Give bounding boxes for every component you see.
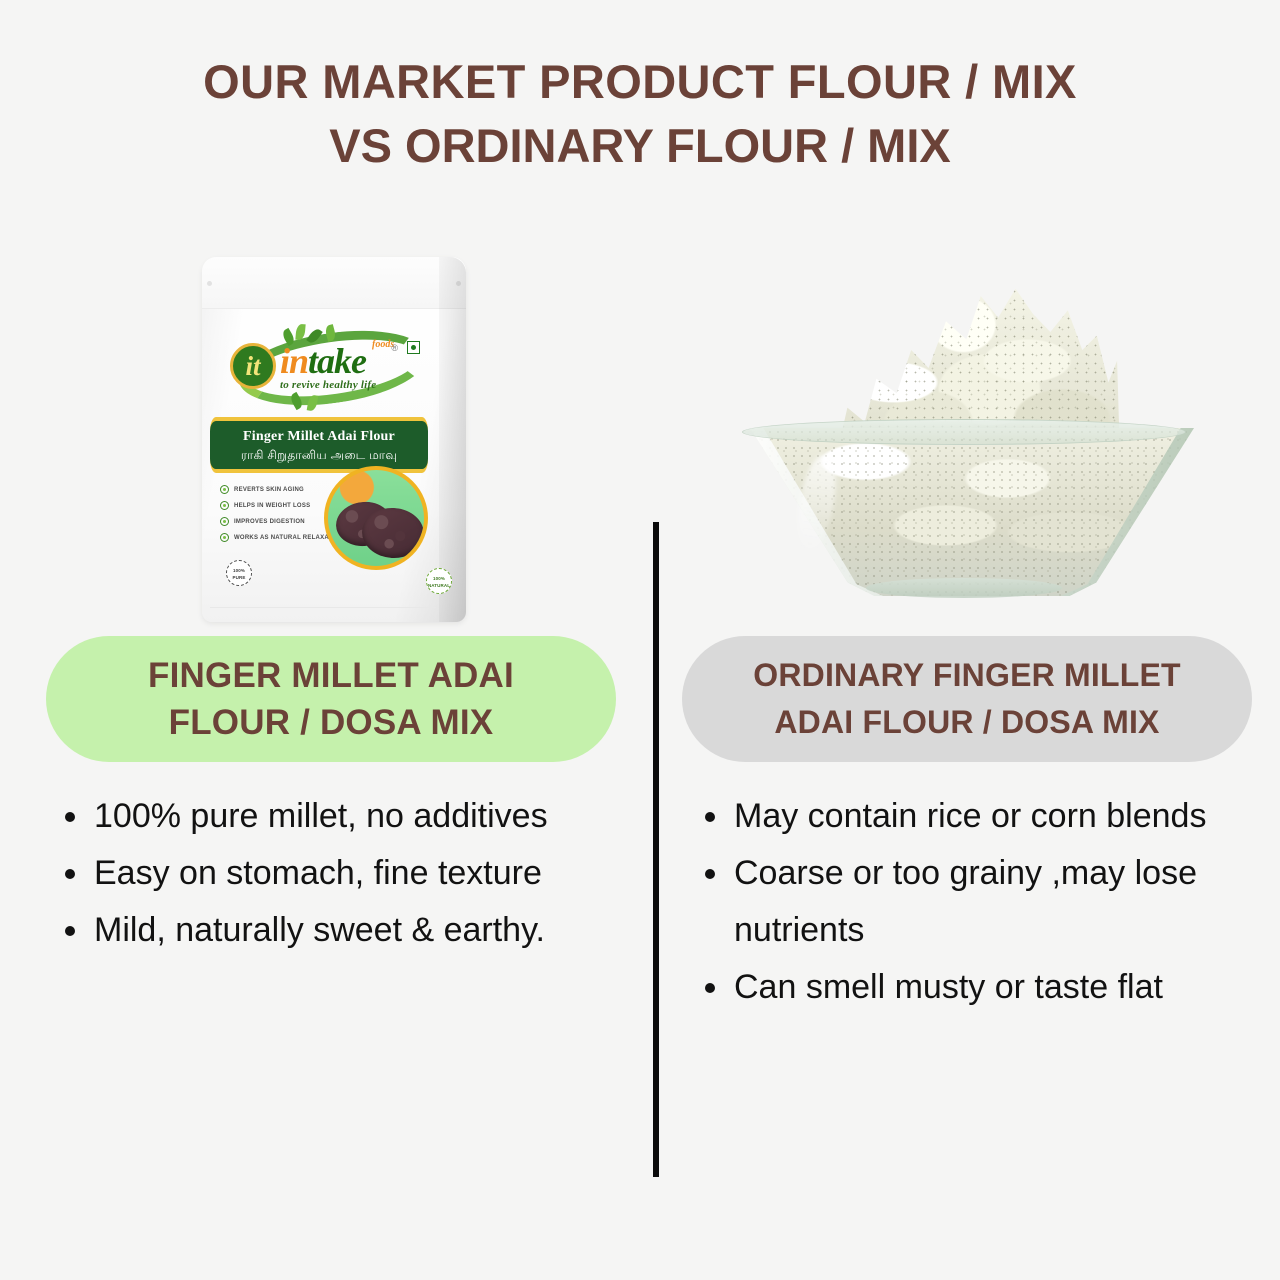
pouch-bottom-seam [210, 607, 436, 608]
pouch-notch-left-icon [207, 281, 212, 286]
brand-wordmark-in: in [280, 341, 308, 381]
flour-bowl [742, 278, 1202, 614]
package-benefit-label: WORKS AS NATURAL RELAXANT [234, 535, 337, 541]
brand-mark-it: it [230, 343, 276, 389]
pouch-top-seal [202, 257, 466, 309]
package-benefit-label: IMPROVES DIGESTION [234, 519, 305, 525]
right-bullet-list: May contain rice or corn blends Coarse o… [688, 788, 1268, 1016]
registered-trademark-icon: ® [391, 343, 398, 353]
left-label-pill: FINGER MILLET ADAI FLOUR / DOSA MIX [46, 636, 616, 762]
bowl-base [866, 578, 1062, 598]
list-item: Mild, naturally sweet & earthy. [48, 902, 628, 959]
list-item: Can smell musty or taste flat [688, 959, 1268, 1016]
list-item: May contain rice or corn blends [688, 788, 1268, 845]
gear-icon [220, 533, 229, 542]
left-bullet-list: 100% pure millet, no additives Easy on s… [48, 788, 628, 959]
gear-icon [220, 485, 229, 494]
left-column: it intake foods to revive healthy life ®… [36, 250, 636, 1210]
vegetarian-mark-icon [407, 341, 420, 354]
product-name-band: Finger Millet Adai Flour ராகி சிறுதானிய … [210, 417, 428, 473]
right-column: ORDINARY FINGER MILLET ADAI FLOUR / DOSA… [672, 250, 1272, 1210]
left-label-line-2: FLOUR / DOSA MIX [169, 703, 494, 742]
product-name-tamil: ராகி சிறுதானிய அடை மாவு [210, 448, 428, 464]
column-divider [653, 522, 659, 1177]
ordinary-flour-image [672, 250, 1272, 622]
right-label-line-2: ADAI FLOUR / DOSA MIX [774, 704, 1159, 740]
title-line-1: OUR MARKET PRODUCT FLOUR / MIX [0, 50, 1280, 114]
left-label-text: FINGER MILLET ADAI FLOUR / DOSA MIX [122, 652, 540, 746]
gear-icon [220, 501, 229, 510]
bowl-rim [742, 419, 1186, 445]
list-item: Easy on stomach, fine texture [48, 845, 628, 902]
title-line-2: VS ORDINARY FLOUR / MIX [0, 114, 1280, 178]
product-package-image: it intake foods to revive healthy life ®… [36, 250, 636, 622]
brand-wordmark: intake [280, 341, 366, 381]
brand-logo: it intake foods to revive healthy life ® [222, 331, 428, 407]
package-benefit-label: HELPS IN WEIGHT LOSS [234, 503, 310, 509]
left-label-line-1: FINGER MILLET ADAI [148, 656, 514, 695]
purity-badge: 100% PURE [226, 560, 252, 586]
right-label-text: ORDINARY FINGER MILLET ADAI FLOUR / DOSA… [727, 652, 1207, 746]
adai-pancake [360, 506, 425, 560]
page-title: OUR MARKET PRODUCT FLOUR / MIX VS ORDINA… [0, 50, 1280, 178]
pouch-side-gusset [439, 257, 466, 622]
product-name-english: Finger Millet Adai Flour [210, 429, 428, 445]
right-label-pill: ORDINARY FINGER MILLET ADAI FLOUR / DOSA… [682, 636, 1252, 762]
brand-wordmark-take: take [308, 341, 366, 381]
brand-tagline: to revive healthy life [280, 379, 376, 391]
natural-badge: 100% NATURAL [426, 568, 452, 594]
right-label-line-1: ORDINARY FINGER MILLET [753, 657, 1181, 693]
gear-icon [220, 517, 229, 526]
package-benefit-item: REVERTS SKIN AGING [220, 485, 346, 494]
package-benefit-label: REVERTS SKIN AGING [234, 487, 304, 493]
list-item: 100% pure millet, no additives [48, 788, 628, 845]
adai-food-photo [324, 466, 428, 570]
list-item: Coarse or too grainy ,may lose nutrients [688, 845, 1268, 959]
comparison-infographic: OUR MARKET PRODUCT FLOUR / MIX VS ORDINA… [0, 0, 1280, 1280]
product-pouch: it intake foods to revive healthy life ®… [202, 257, 466, 622]
